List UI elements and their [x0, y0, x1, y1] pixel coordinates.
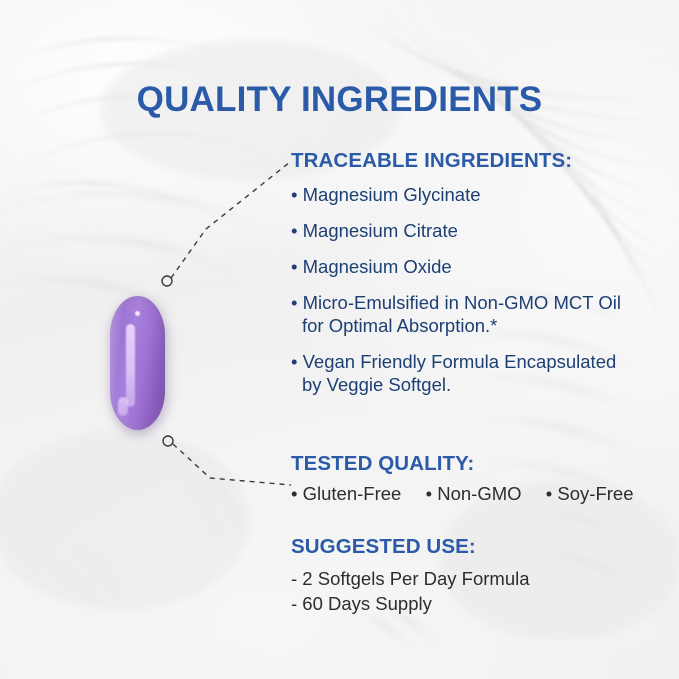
list-item: • Magnesium Citrate: [291, 219, 621, 242]
badge-non-gmo: • Non-GMO: [426, 483, 522, 504]
tested-quality-badges: • Gluten-Free • Non-GMO • Soy-Free: [291, 483, 634, 505]
badge-soy-free: • Soy-Free: [546, 483, 634, 504]
bullet-text: • Magnesium Glycinate: [291, 184, 481, 205]
capsule-bottom-glow: [118, 397, 129, 416]
capsule-specular-dot: [135, 311, 140, 316]
badge-gluten-free: • Gluten-Free: [291, 483, 401, 504]
quality-ingredients-infographic: QUALITY INGREDIENTS TRACEABLE INGREDIENT…: [0, 0, 679, 679]
bullet-text: • Magnesium Oxide: [291, 256, 452, 277]
bullet-text: • Micro-Emulsified in Non-GMO MCT Oil: [291, 292, 621, 313]
section-tested-quality: TESTED QUALITY: • Gluten-Free • Non-GMO …: [291, 452, 634, 505]
suggested-use-line: - 2 Softgels Per Day Formula: [291, 566, 530, 591]
suggested-use-line: - 60 Days Supply: [291, 591, 530, 616]
list-item: • Vegan Friendly Formula Encapsulated by…: [291, 350, 621, 396]
bullet-text-continued: by Veggie Softgel.: [291, 373, 621, 396]
capsule-highlight-stripe: [126, 324, 135, 407]
list-item: • Magnesium Oxide: [291, 255, 621, 278]
bullet-text: • Vegan Friendly Formula Encapsulated: [291, 351, 616, 372]
section-suggested-use: SUGGESTED USE: - 2 Softgels Per Day Form…: [291, 535, 530, 616]
softgel-capsule-image: [108, 294, 168, 434]
bullet-text: • Magnesium Citrate: [291, 220, 458, 241]
page-title: QUALITY INGREDIENTS: [0, 80, 679, 120]
tested-quality-heading: TESTED QUALITY:: [291, 452, 634, 476]
section-traceable-ingredients: TRACEABLE INGREDIENTS: • Magnesium Glyci…: [291, 149, 621, 396]
list-item: • Micro-Emulsified in Non-GMO MCT Oil fo…: [291, 291, 621, 337]
suggested-use-heading: SUGGESTED USE:: [291, 535, 530, 559]
list-item: • Magnesium Glycinate: [291, 183, 621, 206]
traceable-heading: TRACEABLE INGREDIENTS:: [291, 149, 621, 173]
bullet-text-continued: for Optimal Absorption.*: [291, 314, 621, 337]
